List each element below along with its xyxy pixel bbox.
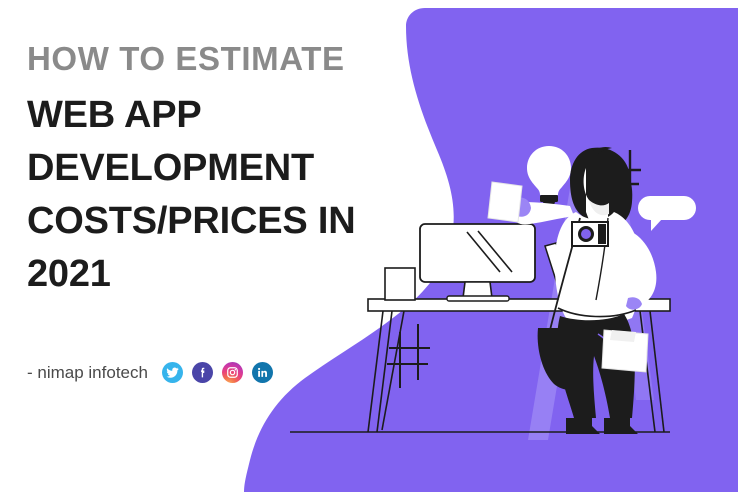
promo-banner: HOW TO ESTIMATE WEB APP DEVELOPMENT COST…	[0, 0, 750, 500]
headline-line-2: DEVELOPMENT	[27, 142, 427, 195]
headline-line-1: WEB APP	[27, 89, 427, 142]
headline-line-4: 2021	[27, 248, 427, 301]
facebook-icon[interactable]	[192, 362, 213, 383]
instagram-icon[interactable]	[222, 362, 243, 383]
byline-text: - nimap infotech	[27, 363, 148, 383]
headline-line-3: COSTS/PRICES IN	[27, 195, 427, 248]
linkedin-icon[interactable]	[252, 362, 273, 383]
kicker-text: HOW TO ESTIMATE	[27, 42, 427, 75]
byline-row: - nimap infotech	[27, 362, 273, 383]
page-title: WEB APP DEVELOPMENT COSTS/PRICES IN 2021	[27, 89, 427, 301]
twitter-icon[interactable]	[162, 362, 183, 383]
headline-block: HOW TO ESTIMATE WEB APP DEVELOPMENT COST…	[27, 42, 427, 301]
